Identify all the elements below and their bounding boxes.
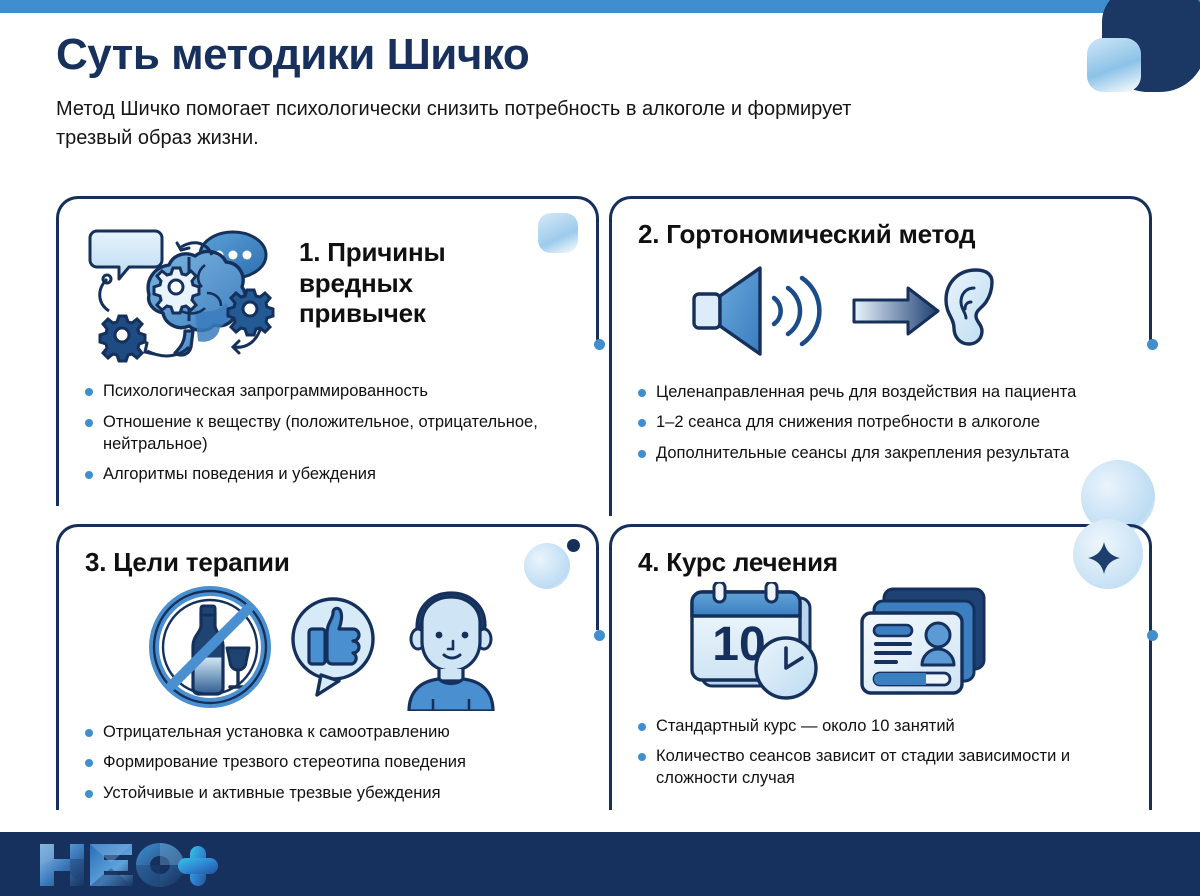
brand-logo[interactable]	[34, 840, 264, 890]
decorative-navy-dot	[567, 539, 580, 552]
card-4-title: 4. Курс лечения	[638, 547, 1123, 578]
card-1-bullets: Психологическая запрограммированность От…	[85, 381, 570, 486]
cards-row-1: 1. Причины вредных привычек Психологичес…	[56, 196, 1152, 516]
bullet-text: Алгоритмы поведения и убеждения	[103, 464, 376, 486]
calendar-clock-icon: 10	[684, 582, 826, 706]
bullet-text: Устойчивые и активные трезвые убеждения	[103, 783, 441, 805]
decorative-circle	[524, 543, 570, 589]
card-2-title: 2. Гортономический метод	[638, 219, 1123, 250]
bullet-text: Дополнительные сеансы для закрепления ре…	[656, 443, 1069, 465]
no-alcohol-icon	[145, 582, 275, 712]
edge-dot	[1147, 630, 1158, 641]
footer-bar	[0, 832, 1200, 896]
bullet-text: 1–2 сеанса для снижения потребности в ал…	[656, 412, 1040, 434]
bullet-text: Формирование трезвого стереотипа поведен…	[103, 752, 466, 774]
list-item: Алгоритмы поведения и убеждения	[85, 464, 570, 486]
bullet-text: Стандартный курс — около 10 занятий	[656, 716, 955, 738]
decorative-gradient-square	[1087, 38, 1141, 92]
card-1-causes[interactable]: 1. Причины вредных привычек Психологичес…	[56, 196, 599, 516]
card-3-icon-row	[85, 582, 570, 712]
header: Суть методики Шичко Метод Шичко помогает…	[56, 30, 1056, 152]
edge-dot	[594, 339, 605, 350]
bullet-dot-icon	[638, 419, 646, 427]
list-item: 1–2 сеанса для снижения потребности в ал…	[638, 412, 1123, 434]
bullet-dot-icon	[85, 419, 93, 427]
bullet-text: Отношение к веществу (положительное, отр…	[103, 412, 570, 456]
id-cards-icon	[854, 585, 990, 703]
card-4-bullets: Стандартный курс — около 10 занятий Коли…	[638, 716, 1123, 790]
bullet-dot-icon	[638, 753, 646, 761]
bullet-dot-icon	[85, 790, 93, 798]
bullet-dot-icon	[638, 450, 646, 458]
speaker-arrow-ear-icon	[686, 258, 1016, 362]
card-2-hortonomic-method[interactable]: 2. Гортономический метод	[609, 196, 1152, 516]
bullet-dot-icon	[638, 723, 646, 731]
bullet-dot-icon	[85, 759, 93, 767]
card-2-bullets: Целенаправленная речь для воздействия на…	[638, 382, 1123, 465]
infographic-page: Суть методики Шичко Метод Шичко помогает…	[0, 0, 1200, 896]
decorative-gradient-square-icon	[538, 213, 578, 253]
card-3-header: 3. Цели терапии	[85, 547, 570, 712]
list-item: Устойчивые и активные трезвые убеждения	[85, 783, 570, 805]
cards-row-2: 3. Цели терапии	[56, 524, 1152, 810]
list-item: Дополнительные сеансы для закрепления ре…	[638, 443, 1123, 465]
list-item: Формирование трезвого стереотипа поведен…	[85, 752, 570, 774]
brain-gears-icon	[85, 219, 285, 369]
bullet-dot-icon	[85, 388, 93, 396]
bullet-dot-icon	[85, 471, 93, 479]
card-3-therapy-goals[interactable]: 3. Цели терапии	[56, 524, 599, 810]
card-1-header: 1. Причины вредных привычек	[85, 219, 570, 369]
card-4-icon-row: 10	[638, 582, 1123, 706]
card-2-icon-row	[638, 258, 1123, 362]
bullet-dot-icon	[85, 729, 93, 737]
card-1-title: 1. Причины вредных привычек	[299, 219, 509, 329]
card-2-header: 2. Гортономический метод	[638, 219, 1123, 362]
page-subtitle: Метод Шичко помогает психологически сниз…	[56, 95, 916, 152]
bullet-dot-icon	[638, 389, 646, 397]
bullet-text: Отрицательная установка к самоотравлению	[103, 722, 450, 744]
card-4-treatment-course[interactable]: 4. Курс лечения	[609, 524, 1152, 810]
top-accent-bar	[0, 0, 1200, 13]
border-gap	[595, 630, 599, 810]
thumbs-up-bubble-icon	[287, 587, 379, 707]
list-item: Психологическая запрограммированность	[85, 381, 570, 403]
border-gap	[595, 340, 599, 516]
list-item: Количество сеансов зависит от стадии зав…	[638, 746, 1123, 790]
cards-grid: 1. Причины вредных привычек Психологичес…	[56, 196, 1152, 810]
card-3-title: 3. Цели терапии	[85, 547, 570, 578]
edge-dot	[1147, 339, 1158, 350]
card-4-header: 4. Курс лечения	[638, 547, 1123, 706]
card-3-bullets: Отрицательная установка к самоотравлению…	[85, 722, 570, 805]
bullet-text: Психологическая запрограммированность	[103, 381, 428, 403]
list-item: Отрицательная установка к самоотравлению	[85, 722, 570, 744]
person-icon	[391, 583, 511, 711]
edge-dot	[594, 630, 605, 641]
bullet-text: Целенаправленная речь для воздействия на…	[656, 382, 1076, 404]
sparkle-icon	[1087, 541, 1121, 575]
border-gap-left	[56, 506, 60, 516]
bullet-text: Количество сеансов зависит от стадии зав…	[656, 746, 1123, 790]
page-title: Суть методики Шичко	[56, 30, 1056, 79]
list-item: Отношение к веществу (положительное, отр…	[85, 412, 570, 456]
list-item: Стандартный курс — около 10 занятий	[638, 716, 1123, 738]
list-item: Целенаправленная речь для воздействия на…	[638, 382, 1123, 404]
